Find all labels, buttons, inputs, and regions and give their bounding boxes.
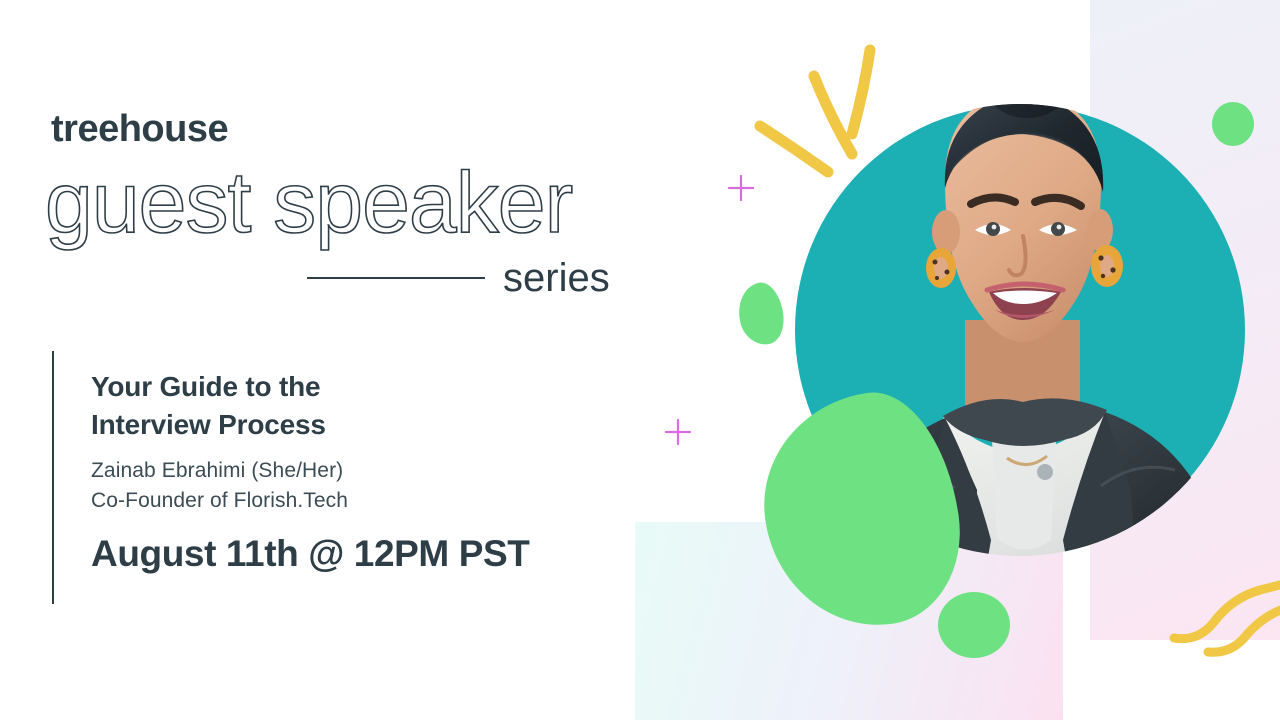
yellow-rays-icon (752, 42, 902, 187)
svg-text:guest speaker: guest speaker (45, 155, 573, 251)
headline-outline: guest speaker (40, 160, 650, 250)
content-column: treehouse guest speaker series Your Guid… (0, 0, 660, 720)
yellow-waves-icon (1168, 580, 1280, 665)
plus-mark-top-icon (727, 174, 755, 202)
info-vertical-rule (52, 351, 54, 604)
talk-title-line-1: Your Guide to the (91, 368, 631, 406)
series-row: series (307, 253, 627, 303)
brand-wordmark: treehouse (51, 108, 228, 151)
talk-title-line-2: Interview Process (91, 406, 631, 444)
series-divider-rule (307, 277, 485, 279)
series-label: series (503, 258, 610, 298)
event-datetime: August 11th @ 12PM PST (91, 534, 631, 575)
speaker-details: Zainab Ebrahimi (She/Her) Co-Founder of … (91, 456, 631, 516)
green-blob-small-icon (733, 279, 789, 349)
slide-canvas: treehouse guest speaker series Your Guid… (0, 0, 1280, 720)
talk-info-block: Your Guide to the Interview Process Zain… (91, 368, 631, 574)
speaker-role: Co-Founder of Florish.Tech (91, 486, 631, 516)
green-dot-bottom-icon (938, 592, 1010, 658)
speaker-name: Zainab Ebrahimi (She/Her) (91, 456, 631, 486)
talk-title: Your Guide to the Interview Process (91, 368, 631, 444)
plus-mark-middle-icon (664, 418, 692, 446)
